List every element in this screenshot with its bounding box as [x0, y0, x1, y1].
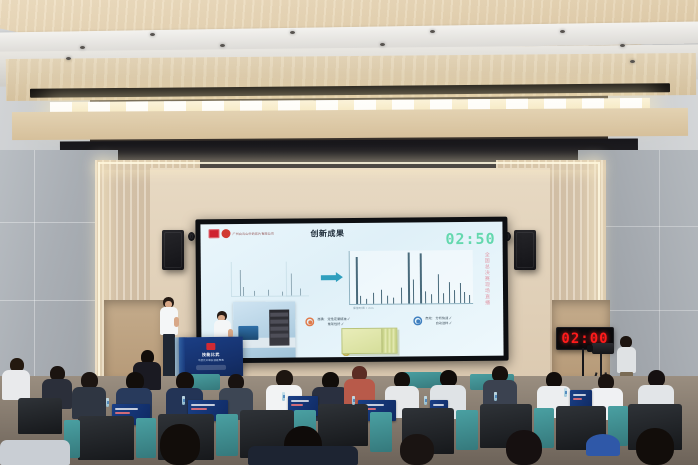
- chair: [78, 416, 134, 460]
- water-bottle: [494, 392, 497, 401]
- slide-chromatogram: [349, 250, 473, 305]
- loudspeaker-icon: [162, 230, 184, 270]
- slide-countdown-timer: 02:50: [445, 230, 495, 248]
- right-arrow-icon: [321, 275, 337, 280]
- water-bottle: [282, 392, 285, 401]
- downlight-icon: [560, 30, 565, 33]
- ceiling-wood-lower: [12, 108, 688, 140]
- slide-vertical-watermark: 全国总决赛现场直播: [484, 252, 491, 306]
- downlight-icon: [620, 44, 625, 47]
- chair-teal: [456, 410, 478, 450]
- downlight-icon: [380, 43, 385, 46]
- loudspeaker-icon: [514, 230, 536, 270]
- slide-bullet-accurate: 准确: 定性定量精准 ✓ 重现性好 ✓: [305, 317, 350, 327]
- presentation-slide: 广州白云山中药饮片有限公司 创新成果 02:50 全国总决赛现场直播: [200, 222, 503, 359]
- bullet-label-2: 高效:: [425, 316, 432, 321]
- slide-sample-illustration: [341, 328, 397, 354]
- water-bottle: [352, 396, 355, 405]
- chair-teal: [216, 414, 238, 456]
- podium-chip: [196, 365, 226, 370]
- audience-head-front: [636, 428, 674, 465]
- audience-head-front: [506, 430, 542, 465]
- slide-chart-reference-2: [286, 261, 309, 296]
- brand-circle-icon: [221, 229, 230, 238]
- chair-teal: [370, 412, 392, 452]
- downlight-icon: [66, 57, 71, 60]
- conference-room-photo: 广州白云山中药饮片有限公司 创新成果 02:50 全国总决赛现场直播: [0, 0, 698, 465]
- audience-cap-front: [586, 434, 620, 456]
- chair-teal: [136, 418, 156, 458]
- bullet-line-2b: 自动进样 ✓: [436, 321, 452, 326]
- slide-company-name: 广州白云山中药饮片有限公司: [232, 231, 274, 235]
- downlight-icon: [290, 31, 295, 34]
- audience-body: [72, 387, 106, 419]
- audience-head-front: [160, 424, 200, 465]
- water-bottle: [564, 388, 567, 397]
- downlight-icon: [150, 33, 155, 36]
- chair: [18, 398, 62, 434]
- brand-mark-icon: [208, 229, 219, 238]
- water-bottle: [182, 396, 185, 405]
- water-bottle: [106, 398, 109, 407]
- audience-body-front: [0, 440, 70, 465]
- bullet-line-1b: 重现性好 ✓: [328, 322, 350, 327]
- podium-logo-icon: [206, 343, 215, 350]
- downlight-icon: [220, 44, 225, 47]
- slide-title: 创新成果: [310, 228, 344, 239]
- slide-chart-axis-label: 保留时间 / min: [353, 306, 374, 310]
- audience-body-front: [248, 446, 358, 465]
- slide-company-logo: 广州白云山中药饮片有限公司: [208, 229, 274, 239]
- video-camera-icon: [592, 343, 614, 354]
- downlight-icon: [630, 60, 635, 63]
- audience-head-front: [400, 434, 434, 465]
- water-bottle: [424, 396, 427, 405]
- led-clock-stand: [582, 348, 584, 378]
- audience-body: [2, 370, 30, 400]
- podium-subline: 中药饮片职业技能竞赛: [179, 358, 243, 363]
- spotlight-icon: [188, 232, 195, 241]
- chair: [318, 404, 368, 446]
- slide-bullet-efficient: 高效: 分析快速 ✓ 自动进样 ✓: [413, 316, 451, 326]
- ceiling-glow-frame: [98, 162, 598, 170]
- downlight-icon: [80, 46, 85, 49]
- bullet-label-1: 准确:: [317, 317, 324, 322]
- downlight-icon: [430, 30, 435, 33]
